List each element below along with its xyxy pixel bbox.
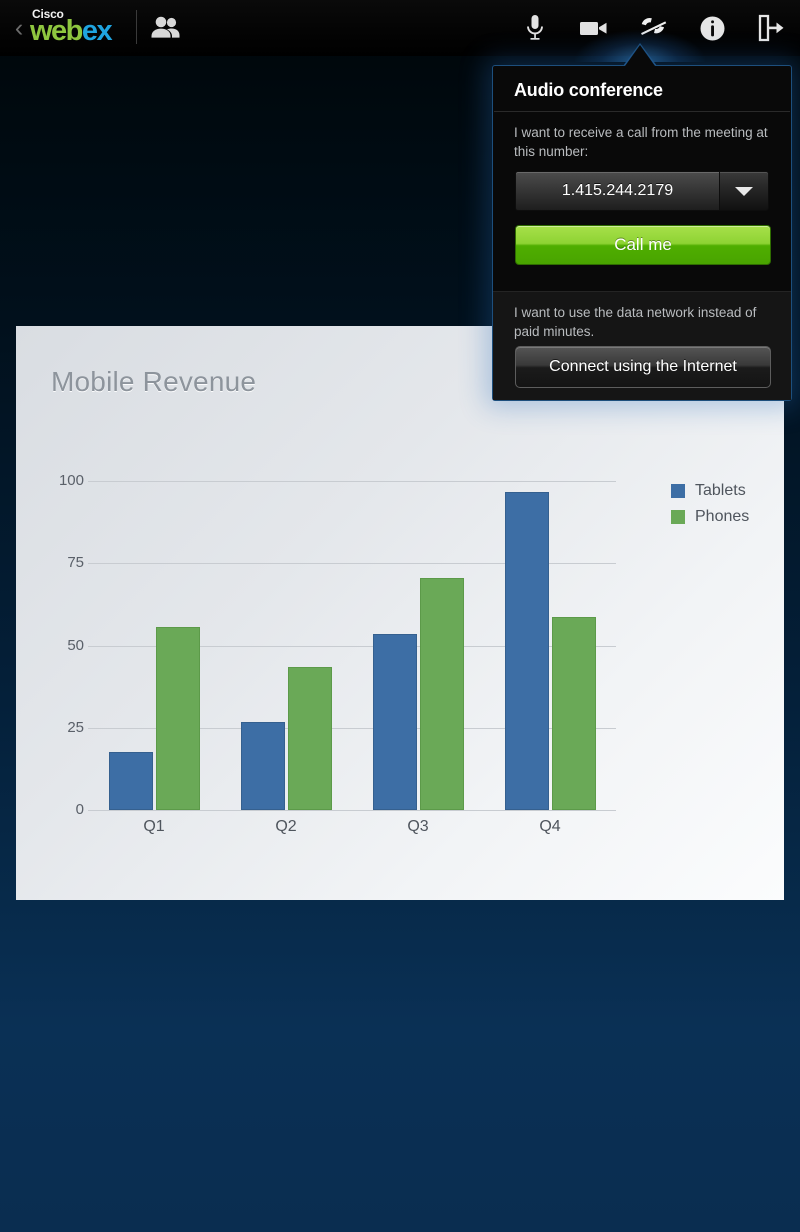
webex-logo: Cisco webex <box>30 6 130 50</box>
chevron-down-icon <box>735 187 753 196</box>
audio-disconnected-icon[interactable] <box>634 9 672 47</box>
leave-meeting-icon[interactable] <box>752 9 790 47</box>
chart-bar-tablets-q1 <box>109 752 153 810</box>
chart-legend-item: Tablets <box>671 478 749 504</box>
chart-bar-group <box>88 481 220 810</box>
chart-legend-label: Tablets <box>695 482 746 500</box>
chart-gridline <box>88 810 616 811</box>
chart-y-tick-label: 25 <box>38 719 84 736</box>
chart-bar-phones-q4 <box>552 617 596 810</box>
popup-title: Audio conference <box>514 80 663 101</box>
chart-bar-tablets-q3 <box>373 634 417 810</box>
chart-bar-group <box>352 481 484 810</box>
chart-legend: TabletsPhones <box>671 478 749 530</box>
phone-number-dropdown-button[interactable] <box>719 171 769 211</box>
popup-title-divider <box>494 111 790 112</box>
header-divider <box>136 10 137 44</box>
data-network-prompt-text: I want to use the data network instead o… <box>514 303 774 341</box>
chart-y-tick-label: 75 <box>38 554 84 571</box>
chart-y-tick-label: 0 <box>38 801 84 818</box>
webex-wordmark-web: web <box>30 15 82 47</box>
connect-using-internet-button[interactable]: Connect using the Internet <box>515 346 771 388</box>
webex-wordmark: webex <box>30 17 111 46</box>
presentation-slide[interactable]: Mobile Revenue 0255075100 Q1Q2Q3Q4 Table… <box>16 326 784 900</box>
chart-bar-phones-q3 <box>420 578 464 810</box>
video-camera-icon[interactable] <box>575 9 613 47</box>
chart-legend-label: Phones <box>695 508 749 526</box>
chart-bar-tablets-q4 <box>505 492 549 810</box>
chart-x-tick-label: Q4 <box>484 818 616 836</box>
chart-plot-area: 0255075100 <box>88 476 616 810</box>
popup-pointer <box>625 45 655 66</box>
chart-legend-item: Phones <box>671 504 749 530</box>
data-network-section: I want to use the data network instead o… <box>493 291 791 400</box>
chart-bar-group <box>220 481 352 810</box>
chart-bar-tablets-q2 <box>241 722 285 810</box>
chart-y-tick-label: 50 <box>38 637 84 654</box>
callback-prompt-text: I want to receive a call from the meetin… <box>514 123 772 161</box>
chart-bar-phones-q2 <box>288 667 332 810</box>
chart-legend-swatch <box>671 484 685 498</box>
participants-icon[interactable] <box>148 13 182 43</box>
back-chevron-icon: ‹ <box>15 16 23 41</box>
webex-wordmark-ex: ex <box>82 15 111 47</box>
call-me-button[interactable]: Call me <box>515 225 771 265</box>
chart-x-tick-label: Q1 <box>88 818 220 836</box>
phone-number-control: 1.415.244.2179 <box>515 171 769 209</box>
chart-x-axis-labels: Q1Q2Q3Q4 <box>88 818 616 836</box>
chart-x-tick-label: Q2 <box>220 818 352 836</box>
info-icon[interactable] <box>693 9 731 47</box>
chart-bars <box>88 481 616 810</box>
chart-title: Mobile Revenue <box>51 366 256 398</box>
chart-y-tick-label: 100 <box>38 472 84 489</box>
back-button[interactable]: ‹ <box>6 13 32 43</box>
chart-legend-swatch <box>671 510 685 524</box>
phone-number-input[interactable]: 1.415.244.2179 <box>515 171 719 211</box>
chart-bar-phones-q1 <box>156 627 200 810</box>
chart-bar-group <box>484 481 616 810</box>
app-top-bar: ‹ Cisco webex <box>0 0 800 56</box>
chart-x-tick-label: Q3 <box>352 818 484 836</box>
audio-conference-popup: Audio conference I want to receive a cal… <box>492 65 792 401</box>
microphone-icon[interactable] <box>516 9 554 47</box>
